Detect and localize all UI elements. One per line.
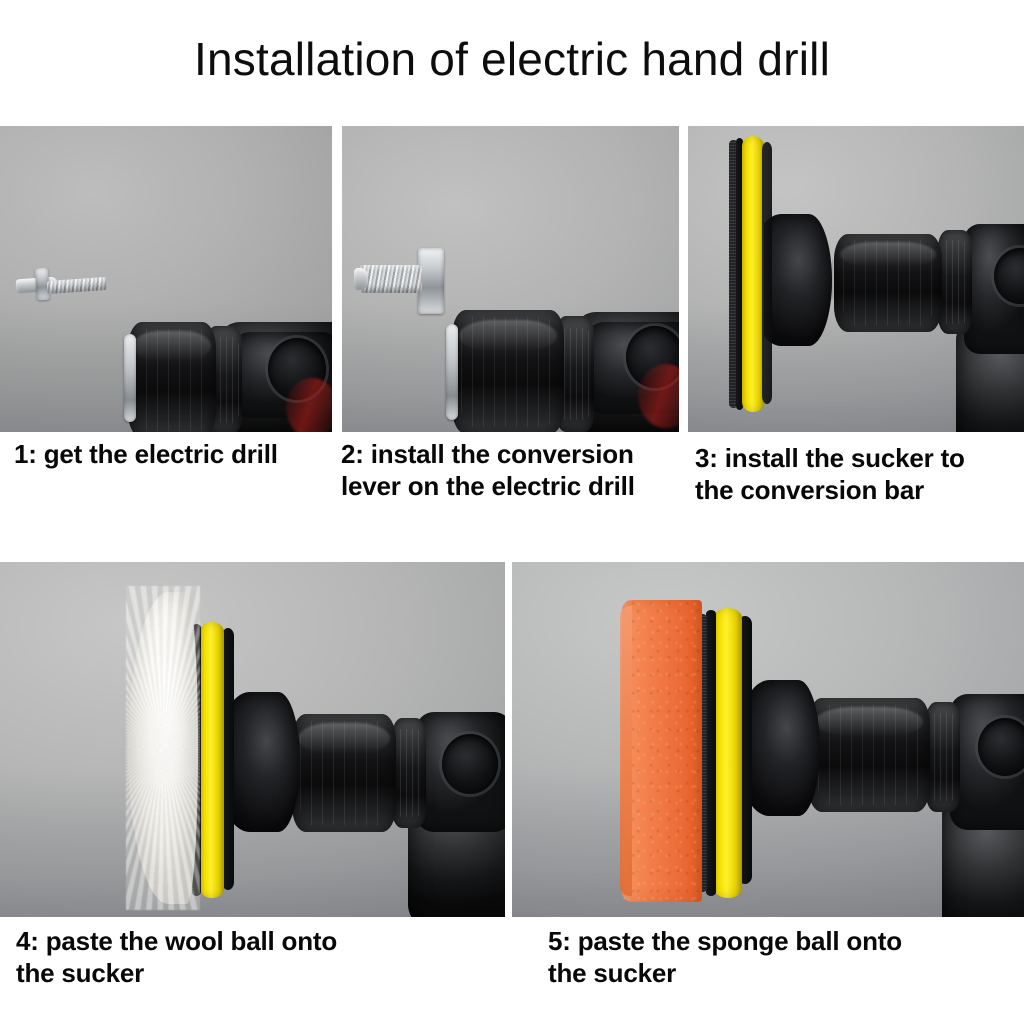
backing-pad-yellow-disc xyxy=(714,608,742,898)
chuck-front-ring xyxy=(124,334,136,422)
caption-line: 1: get the electric drill xyxy=(14,438,334,470)
backing-pad-back-rim xyxy=(762,142,772,404)
caption-line: 4: paste the wool ball onto xyxy=(16,925,496,957)
caption-line: lever on the electric drill xyxy=(341,470,681,502)
orange-sponge-pad xyxy=(622,600,702,902)
caption-line: 3: install the sucker to xyxy=(695,442,1024,474)
caption-line: the conversion bar xyxy=(695,474,1024,506)
caption-step-4: 4: paste the wool ball onto the sucker xyxy=(16,925,496,989)
caption-line: the sucker xyxy=(548,957,1018,989)
drill-bore-opening xyxy=(978,718,1024,776)
conversion-bolt-tip xyxy=(354,268,368,290)
instruction-sheet: Installation of electric hand drill xyxy=(0,0,1024,1024)
caption-step-3: 3: install the sucker to the conversion … xyxy=(695,442,1024,506)
step-photo-1 xyxy=(0,126,332,432)
drill-chuck-collar xyxy=(926,702,960,812)
drill-chuck xyxy=(808,698,930,812)
step-photo-4 xyxy=(0,562,505,917)
backing-pad-dark-rim xyxy=(706,610,716,896)
conversion-bolt-shank xyxy=(360,265,422,293)
backing-pad-yellow-disc xyxy=(742,136,764,412)
drill-red-marking xyxy=(286,378,332,432)
page-title: Installation of electric hand drill xyxy=(0,30,1024,88)
caption-line: 5: paste the sponge ball onto xyxy=(548,925,1018,957)
caption-line: the sucker xyxy=(16,957,496,989)
drill-chuck xyxy=(128,322,216,432)
backing-pad-yellow-disc xyxy=(200,622,224,898)
step-photo-2 xyxy=(342,126,679,432)
caption-step-5: 5: paste the sponge ball onto the sucker xyxy=(548,925,1018,989)
drill-chuck xyxy=(834,234,942,332)
wool-bonnet xyxy=(128,592,198,904)
drill-chuck-collar xyxy=(938,230,972,334)
drill-chuck-collar xyxy=(392,718,426,828)
caption-step-1: 1: get the electric drill xyxy=(14,438,334,470)
step-photo-3 xyxy=(688,126,1024,432)
drill-bore-opening xyxy=(442,734,498,794)
caption-step-2: 2: install the conversion lever on the e… xyxy=(341,438,681,502)
drill-chuck xyxy=(452,310,564,432)
caption-line: 2: install the conversion xyxy=(341,438,681,470)
step-photo-5 xyxy=(512,562,1024,917)
orange-sponge-front-face xyxy=(620,606,632,896)
chuck-front-ring xyxy=(446,324,458,420)
drill-chuck xyxy=(292,714,396,832)
